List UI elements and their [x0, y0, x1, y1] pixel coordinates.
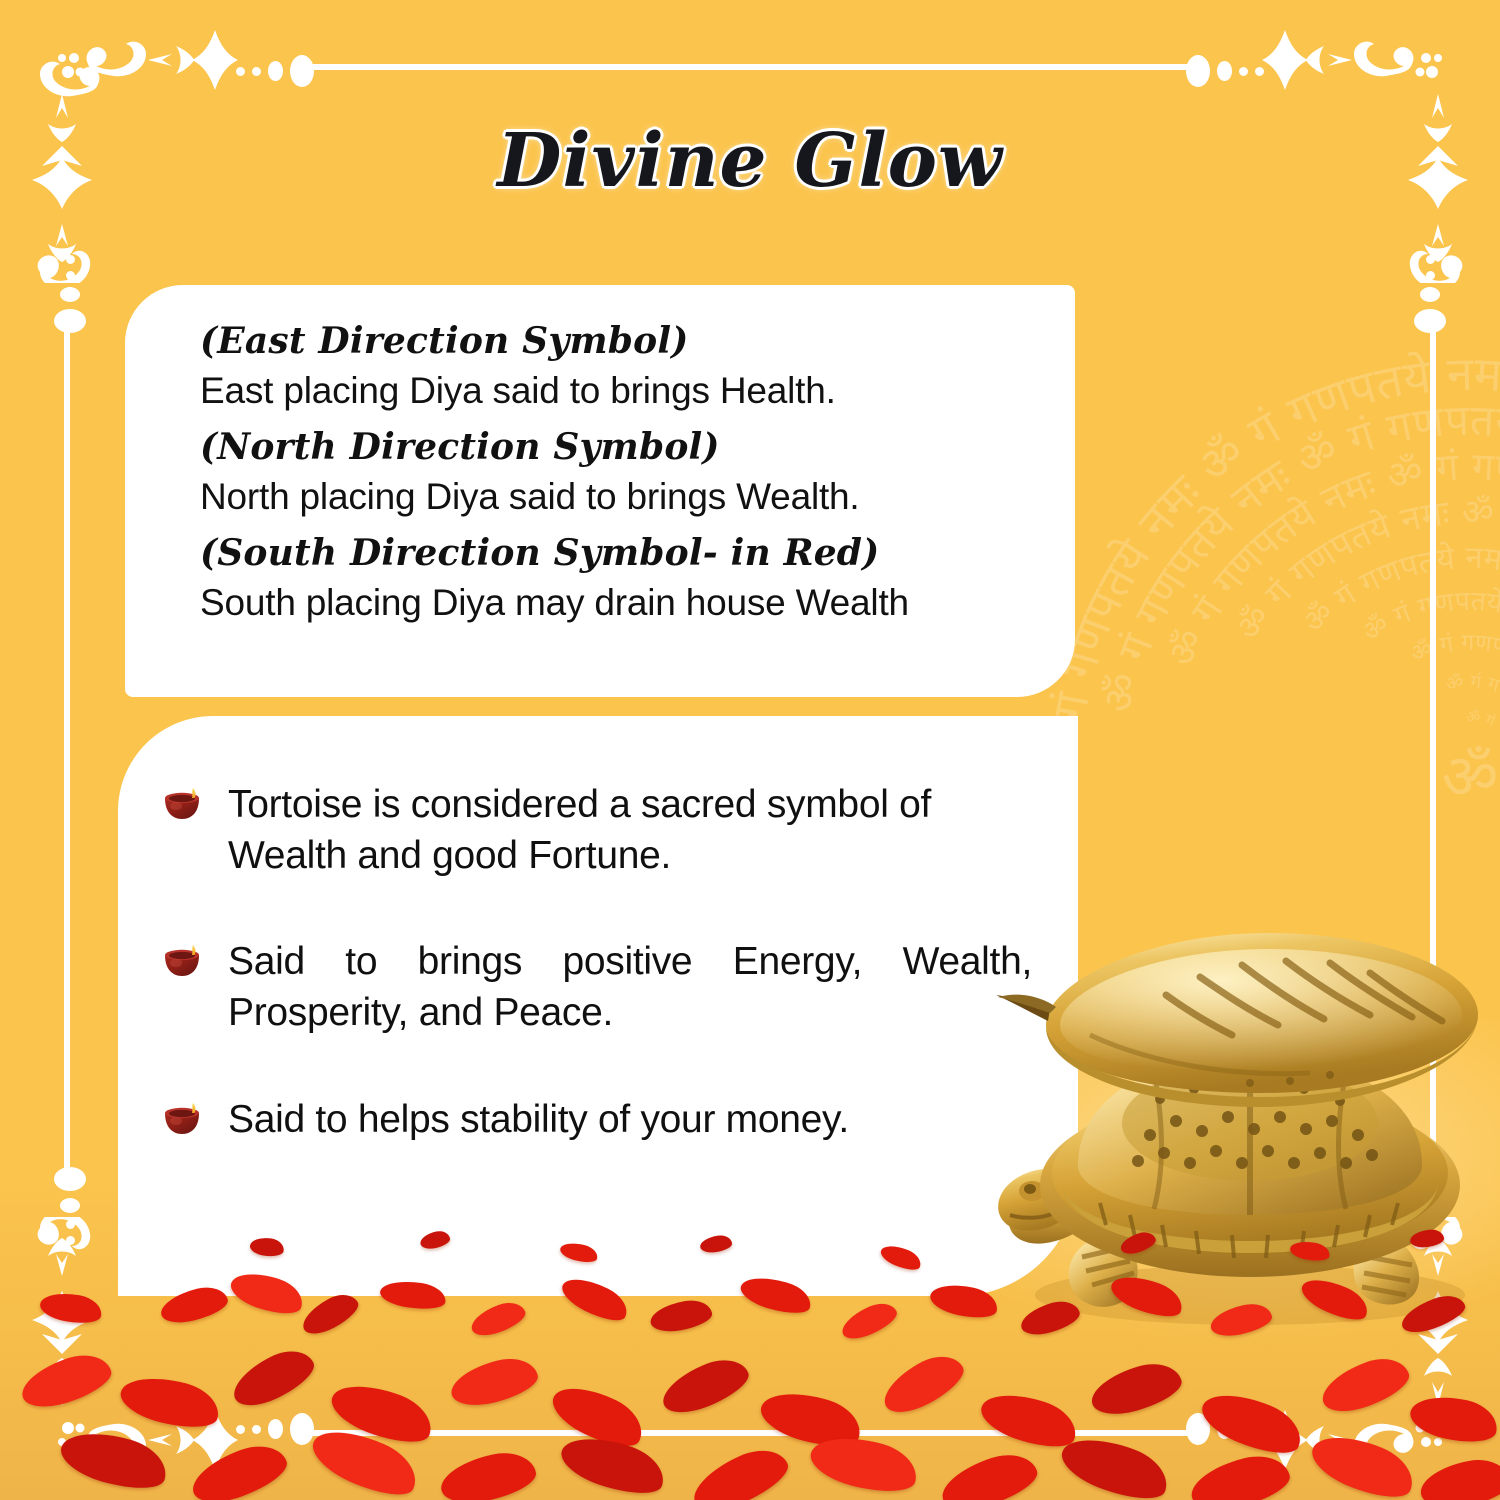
- bead-cluster-bottom-left: [236, 1413, 314, 1445]
- svg-text:ॐ गं गणपतये नमः ॐ गं गणपतये नम: ॐ गं गणपतये नमः ॐ गं गणपतये नमः: [1444, 671, 1500, 875]
- bead-cluster-top-left: [236, 55, 314, 87]
- rose-petal: [1417, 1455, 1500, 1500]
- rose-petal: [1305, 1424, 1421, 1500]
- benefits-list: Tortoise is considered a sacred symbol o…: [162, 780, 1032, 1145]
- rose-petal: [1055, 1427, 1175, 1500]
- rose-petal: [446, 1352, 541, 1412]
- list-item: Said to brings positive Energy, Wealth, …: [162, 937, 1032, 1038]
- rose-petal: [55, 1422, 172, 1498]
- rose-petal: [1316, 1350, 1415, 1420]
- svg-text:ॐ: ॐ: [1442, 740, 1499, 813]
- rose-petal: [555, 1427, 670, 1500]
- benefit-text: Said to brings positive Energy, Wealth, …: [228, 937, 1032, 1038]
- rose-petal: [756, 1383, 867, 1455]
- rose-petal: [467, 1297, 529, 1341]
- rose-petal: [1407, 1389, 1500, 1448]
- rose-petal: [837, 1297, 901, 1344]
- rose-petal: [1086, 1356, 1186, 1422]
- rose-petal: [436, 1447, 539, 1500]
- rose-petal: [185, 1437, 292, 1500]
- rose-petal: [305, 1418, 425, 1500]
- divider-rule-left: [64, 320, 70, 1180]
- rose-petal: [226, 1341, 321, 1415]
- rose-petal: [116, 1369, 224, 1436]
- rose-petal: [806, 1428, 922, 1500]
- bead-cluster-right-upper: [1414, 255, 1446, 333]
- svg-text:ॐ गं गणपतये नमः: ॐ गं गणपतये नमः: [1466, 708, 1500, 789]
- directions-text-block: (East Direction Symbol) East placing Diy…: [200, 318, 1060, 636]
- divider-rule-bottom: [300, 1430, 1200, 1436]
- divider-rule-top: [300, 64, 1200, 70]
- rose-petal: [936, 1446, 1043, 1500]
- poster-canvas: ॐ गं गणपतये नमः ॐ गं गणपतये नमः ॐ गं गणप…: [0, 0, 1500, 1500]
- rose-petal: [16, 1347, 116, 1415]
- svg-text:ॐ गं गणपतये नमः ॐ गं गणपतये नम: ॐ गं गणपतये नमः ॐ गं गणपतये नमः ॐ गं गणप…: [1228, 493, 1500, 864]
- diya-lamp-icon: [162, 788, 204, 820]
- rose-petal: [685, 1440, 794, 1500]
- rose-petal: [1186, 1449, 1294, 1500]
- rose-petal: [876, 1346, 971, 1422]
- rose-petal: [656, 1351, 754, 1422]
- benefit-text: Tortoise is considered a sacred symbol o…: [228, 780, 1032, 881]
- rose-petal: [325, 1374, 438, 1453]
- direction-body-east: East placing Diya said to brings Health.: [200, 367, 1060, 415]
- bead-cluster-top-right: [1186, 55, 1264, 87]
- bead-cluster-left-upper: [54, 255, 86, 333]
- direction-body-south: South placing Diya may drain house Wealt…: [200, 579, 1060, 627]
- direction-heading-north: (North Direction Symbol): [200, 424, 1060, 471]
- list-item: Tortoise is considered a sacred symbol o…: [162, 780, 1032, 881]
- rose-petal: [648, 1297, 714, 1335]
- bead-cluster-left-lower: [54, 1167, 86, 1245]
- diya-lamp-icon: [162, 1103, 204, 1135]
- rose-petal: [976, 1384, 1083, 1456]
- rose-petal: [1195, 1382, 1309, 1464]
- brass-tortoise-statue: [950, 885, 1500, 1355]
- benefit-text: Said to helps stability of your money.: [228, 1095, 849, 1146]
- page-title: Divine Glow: [0, 118, 1500, 204]
- direction-heading-south: (South Direction Symbol- in Red): [200, 530, 1060, 577]
- list-item: Said to helps stability of your money.: [162, 1095, 1032, 1146]
- svg-text:ॐ गं गणपतये नमः ॐ गं गणपतये नम: ॐ गं गणपतये नमः ॐ गं गणपतये नमः: [1407, 630, 1500, 844]
- bead-cluster-bottom-right: [1186, 1413, 1264, 1445]
- direction-body-north: North placing Diya said to brings Wealth…: [200, 473, 1060, 521]
- rose-petal: [38, 1289, 104, 1327]
- rose-petal: [545, 1375, 651, 1457]
- direction-heading-east: (East Direction Symbol): [200, 318, 1060, 365]
- svg-text:ॐ गं गणपतये नमः ॐ गं गणपतये नम: ॐ गं गणपतये नमः ॐ गं गणपतये नमः ॐ गं गणप…: [1296, 540, 1500, 931]
- diya-lamp-icon: [162, 945, 204, 977]
